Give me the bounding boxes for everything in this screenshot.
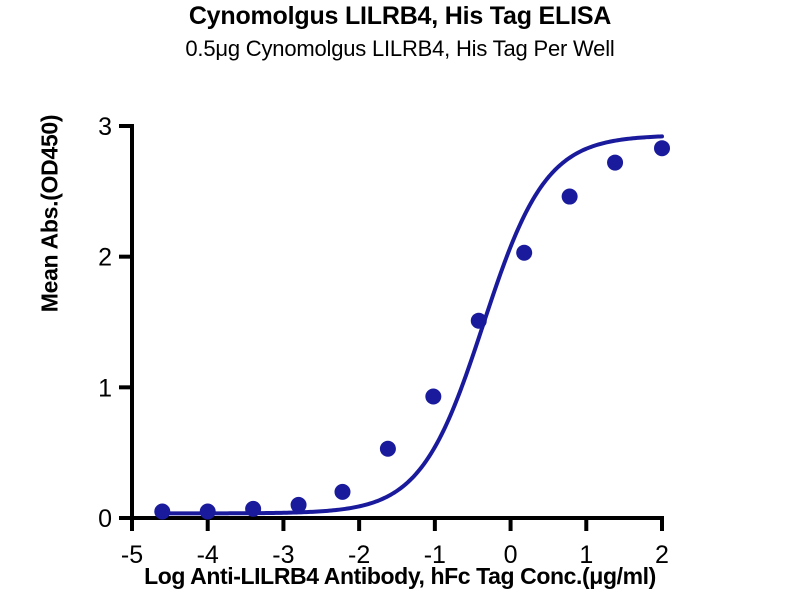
x-axis-label: Log Anti-LILRB4 Antibody, hFc Tag Conc.(… — [0, 563, 800, 590]
data-point — [200, 503, 216, 519]
data-point — [471, 313, 487, 329]
y-tick-label: 2 — [98, 244, 112, 272]
x-axis-ticks: -5-4-3-2-1012 — [121, 518, 669, 569]
data-point — [245, 501, 261, 517]
y-tick-label: 0 — [98, 505, 112, 533]
data-point — [425, 388, 441, 404]
data-point — [291, 497, 307, 513]
data-point — [154, 503, 170, 519]
fit-curve-line — [162, 136, 662, 513]
data-point — [516, 245, 532, 261]
y-axis-label: Mean Abs.(OD450) — [37, 49, 64, 379]
plot-area: -5-4-3-2-1012 0123 — [0, 0, 800, 600]
data-point — [654, 140, 670, 156]
y-tick-label: 1 — [98, 374, 112, 402]
data-point — [562, 189, 578, 205]
elisa-chart-figure: Cynomolgus LILRB4, His Tag ELISA 0.5μg C… — [0, 0, 800, 600]
data-point — [607, 155, 623, 171]
data-point — [380, 441, 396, 457]
data-point — [334, 484, 350, 500]
y-tick-label: 3 — [98, 113, 112, 141]
y-axis-ticks: 0123 — [98, 113, 132, 533]
axes — [132, 126, 662, 518]
data-point-markers — [154, 140, 670, 519]
